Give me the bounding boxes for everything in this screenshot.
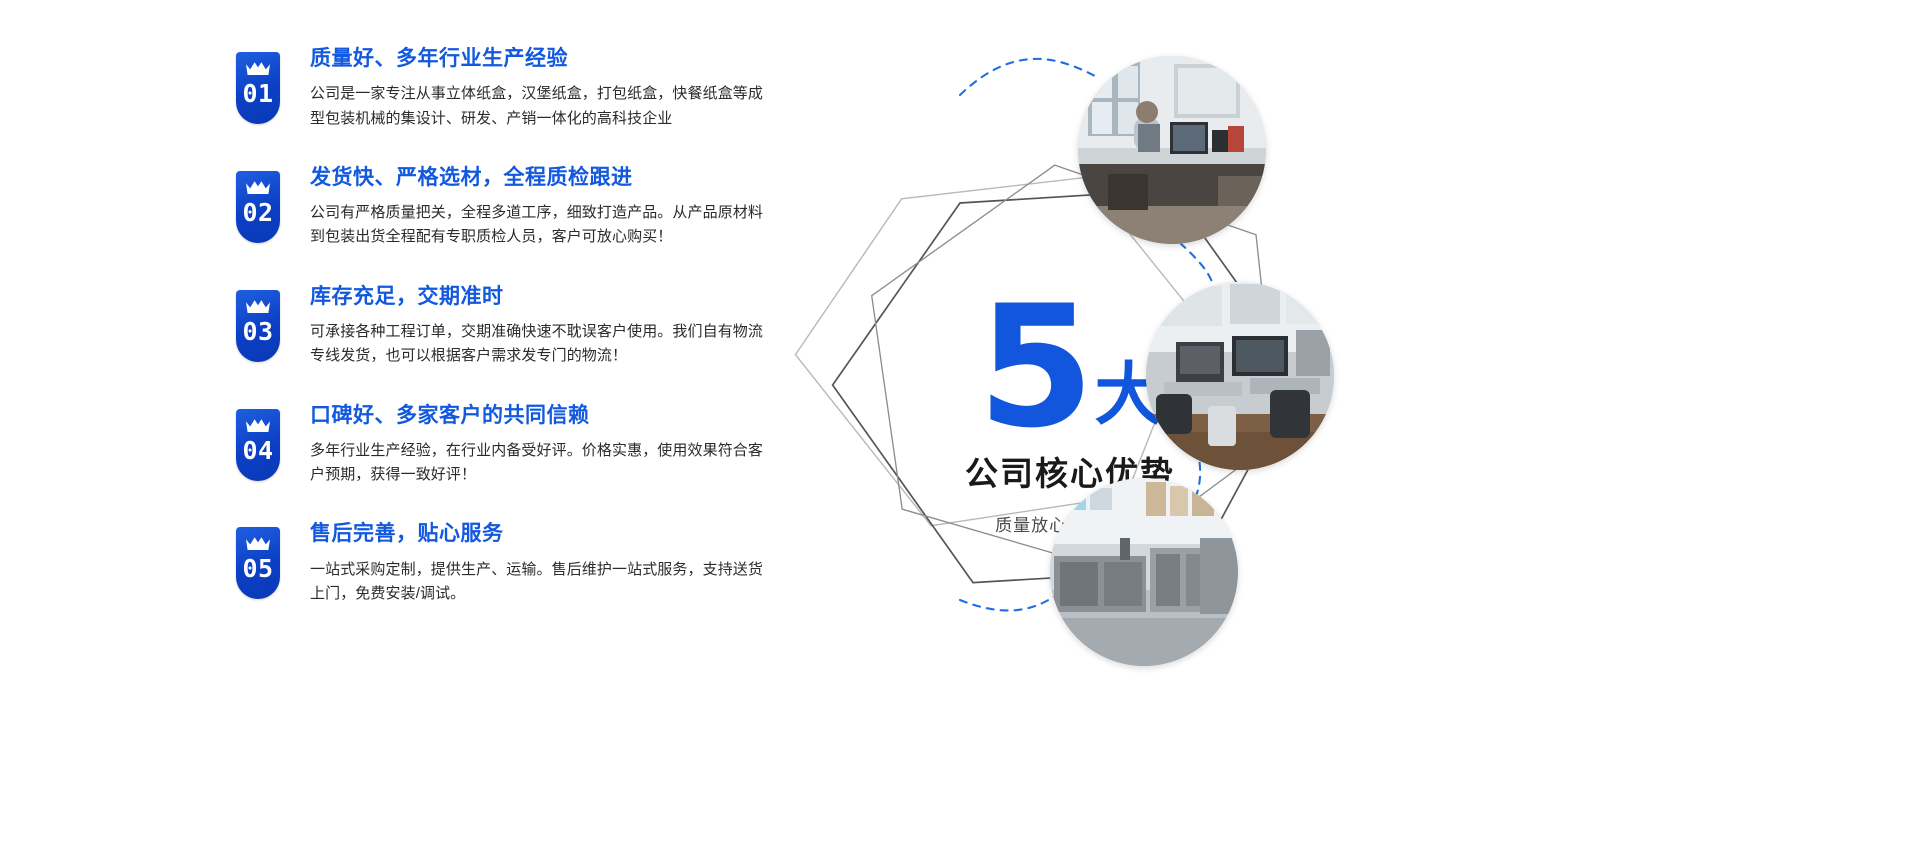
photo-office-interior	[1146, 282, 1334, 470]
feature-desc: 可承接各种工程订单，交期准确快速不耽误客户使用。我们自有物流专线发货，也可以根据…	[310, 320, 778, 369]
feature-number: 02	[242, 200, 273, 225]
page-root: 01 质量好、多年行业生产经验 公司是一家专注从事立体纸盒，汉堡纸盒，打包纸盒，…	[0, 0, 1920, 847]
crown-icon	[245, 180, 271, 196]
feature-desc: 公司是一家专注从事立体纸盒，汉堡纸盒，打包纸盒，快餐纸盒等成型包装机械的集设计、…	[310, 82, 778, 131]
connector-dash-top	[960, 59, 1095, 95]
feature-desc: 多年行业生产经验，在行业内备受好评。价格实惠，使用效果符合客户预期，获得一致好评…	[310, 439, 778, 488]
feature-badge-05: 05	[236, 527, 280, 599]
feature-desc: 一站式采购定制，提供生产、运输。售后维护一站式服务，支持送货上门，免费安装/调试…	[310, 558, 778, 607]
crown-icon	[245, 536, 271, 552]
feature-badge-01: 01	[236, 52, 280, 124]
photo-office-workstation	[1078, 56, 1266, 244]
feature-number: 05	[242, 556, 273, 581]
photo-office-interior-image	[1146, 282, 1334, 470]
feature-badge-03: 03	[236, 290, 280, 362]
feature-number: 04	[242, 438, 273, 463]
photo-production-machine	[1050, 478, 1238, 666]
feature-desc: 公司有严格质量把关，全程多道工序，细致打造产品。从产品原材料到包装出货全程配有专…	[310, 201, 778, 250]
hero-graphic: 5 大 公司核心优势 质量放心 厂家供应	[760, 0, 1920, 847]
feature-number: 03	[242, 319, 273, 344]
feature-badge-02: 02	[236, 171, 280, 243]
hero-big-number: 5	[978, 290, 1091, 445]
feature-badge-04: 04	[236, 409, 280, 481]
crown-icon	[245, 61, 271, 77]
feature-number: 01	[242, 81, 273, 106]
connector-dash-bottom	[960, 592, 1060, 610]
crown-icon	[245, 418, 271, 434]
photo-production-machine-image	[1050, 478, 1238, 666]
photo-office-workstation-image	[1078, 56, 1266, 244]
crown-icon	[245, 299, 271, 315]
